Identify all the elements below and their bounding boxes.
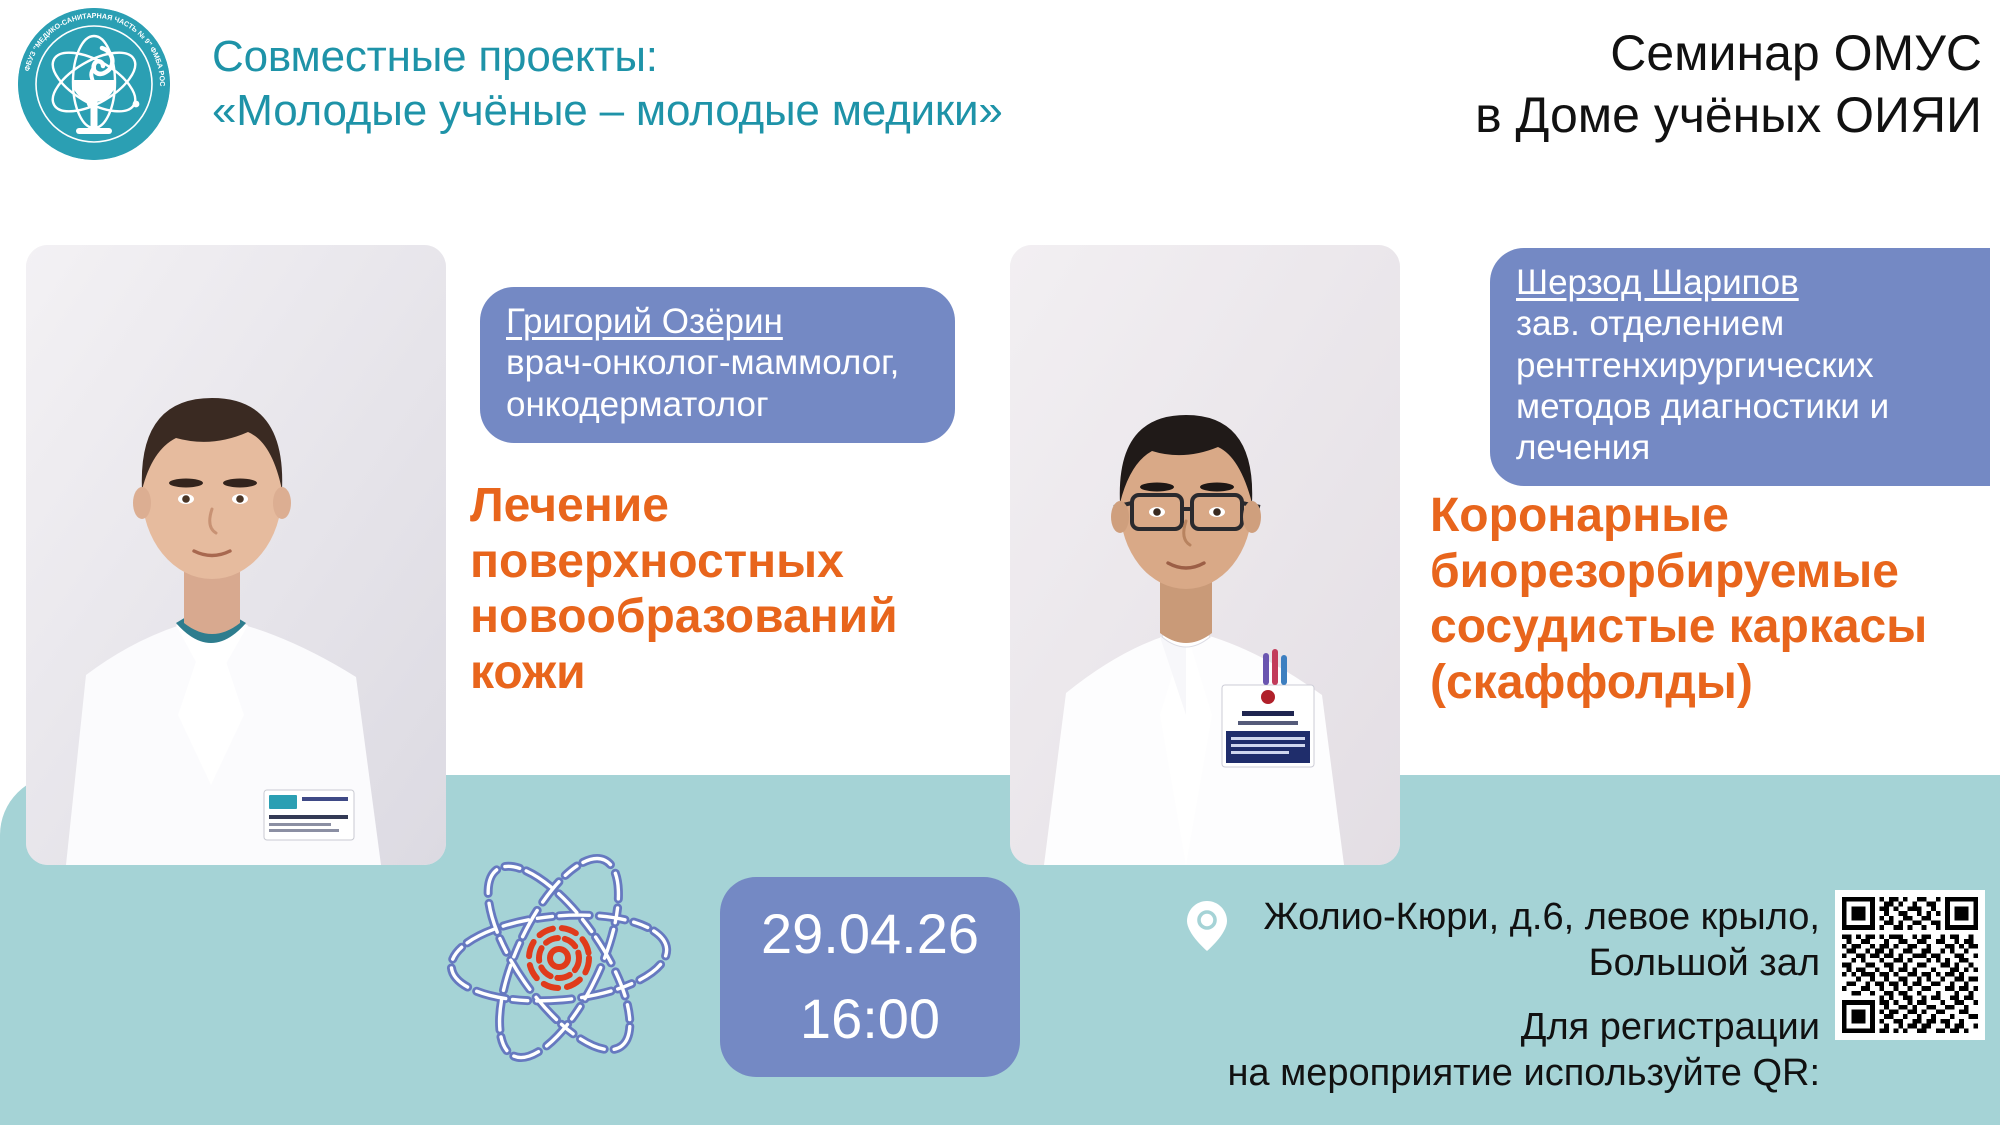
speaker-badge-ozerin: Григорий Озёрин врач-онколог-маммолог, о… [480, 287, 955, 443]
msch9-fmba-logo-icon: ФБУЗ "МЕДИКО-САНИТАРНАЯ ЧАСТЬ № 9" ФМБА … [18, 8, 170, 160]
speaker-role-line4-sharipov: лечения [1516, 427, 1964, 468]
header-left-title: Совместные проекты: «Молодые учёные – мо… [212, 30, 1003, 137]
venue-address: Жолио-Кюри, д.6, левое крыло, Большой за… [1180, 895, 1820, 986]
speaker-name-ozerin: Григорий Озёрин [506, 301, 929, 342]
header-right-title: Семинар ОМУС в Доме учёных ОИЯИ [1475, 22, 1982, 146]
speaker-role-line2-ozerin: онкодерматолог [506, 384, 929, 425]
header-right-line1: Семинар ОМУС [1475, 22, 1982, 84]
registration-qr-code[interactable] [1835, 890, 1985, 1040]
talk-title-ozerin: Лечение поверхностных новообразований ко… [470, 478, 990, 701]
registration-note: Для регистрации на мероприятие используй… [1140, 1005, 1820, 1096]
venue-line1: Жолио-Кюри, д.6, левое крыло, [1180, 895, 1820, 941]
header-left-line2: «Молодые учёные – молодые медики» [212, 84, 1003, 138]
registration-line2: на мероприятие используйте QR: [1140, 1051, 1820, 1097]
event-date-box: 29.04.26 16:00 [720, 877, 1020, 1077]
speaker-name-sharipov: Шерзод Шарипов [1516, 262, 1964, 303]
speaker-photo-ozerin [26, 245, 446, 865]
speaker-role-line3-sharipov: методов диагностики и [1516, 386, 1964, 427]
header-right-line2: в Доме учёных ОИЯИ [1475, 84, 1982, 146]
header-left-line1: Совместные проекты: [212, 30, 1003, 84]
page-header: ФБУЗ "МЕДИКО-САНИТАРНАЯ ЧАСТЬ № 9" ФМБА … [0, 0, 2000, 175]
registration-line1: Для регистрации [1140, 1005, 1820, 1051]
speaker-photo-sharipov [1010, 245, 1400, 865]
speaker-badge-sharipov: Шерзод Шарипов зав. отделением рентгенхи… [1490, 248, 1990, 486]
talk-title-sharipov: Коронарные биорезорбируемые сосудистые к… [1430, 488, 1990, 711]
speaker-role-line1-sharipov: зав. отделением [1516, 303, 1964, 344]
event-time: 16:00 [800, 990, 940, 1049]
speaker-role-line1-ozerin: врач-онколог-маммолог, [506, 342, 929, 383]
event-date: 29.04.26 [761, 905, 979, 964]
jinr-atom-logo-icon [432, 838, 687, 1083]
speaker-role-line2-sharipov: рентгенхирургических [1516, 345, 1964, 386]
venue-line2: Большой зал [1180, 941, 1820, 987]
